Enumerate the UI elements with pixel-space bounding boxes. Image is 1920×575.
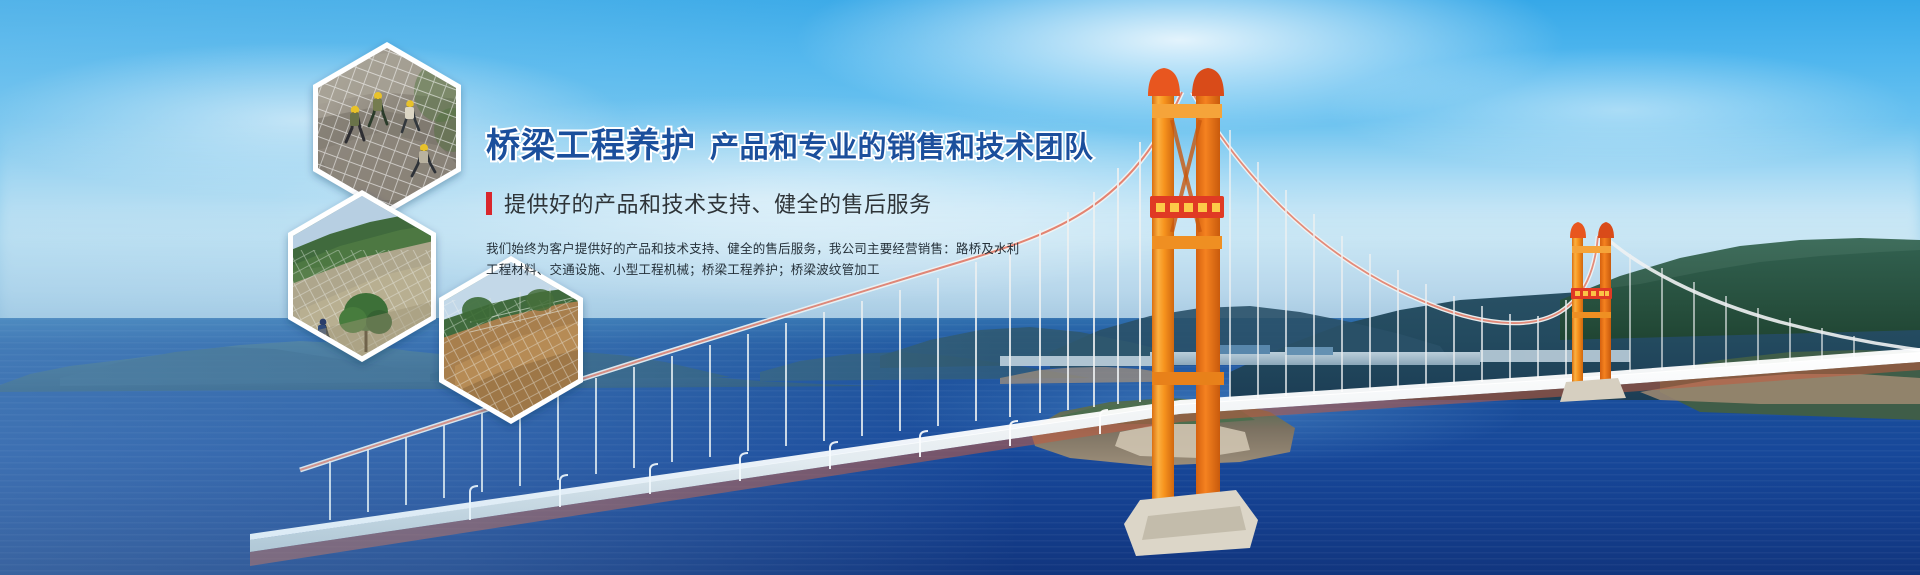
headline-sub: 产品和专业的销售和技术团队 — [710, 124, 1094, 166]
banner-copy: 桥梁工程养护 产品和专业的销售和技术团队 提供好的产品和技术支持、健全的售后服务… — [486, 118, 1016, 281]
headline-main: 桥梁工程养护 — [486, 118, 696, 167]
accent-bar — [486, 192, 492, 215]
hexagon-photo-collage — [0, 0, 1920, 575]
hex-photo-rock-slope-mesh-workers — [310, 40, 470, 220]
hex-photo-vegetated-slope-mesh — [286, 190, 438, 370]
subheadline-text: 提供好的产品和技术支持、健全的售后服务 — [504, 187, 932, 219]
subheadline-row: 提供好的产品和技术支持、健全的售后服务 — [486, 187, 1016, 219]
description-paragraph: 我们始终为客户提供好的产品和技术支持、健全的售后服务，我公司主要经营销售：路桥及… — [486, 239, 1016, 281]
description-line-2: 工程材料、交通设施、小型工程机械；桥梁工程养护；桥梁波纹管加工 — [486, 260, 1016, 281]
description-line-1: 我们始终为客户提供好的产品和技术支持、健全的售后服务，我公司主要经营销售：路桥及… — [486, 239, 1016, 260]
hero-banner: 桥梁工程养护 产品和专业的销售和技术团队 提供好的产品和技术支持、健全的售后服务… — [0, 0, 1920, 575]
hex-photo-roadside-slope-mesh — [437, 256, 587, 428]
headline-row: 桥梁工程养护 产品和专业的销售和技术团队 — [486, 118, 1016, 167]
